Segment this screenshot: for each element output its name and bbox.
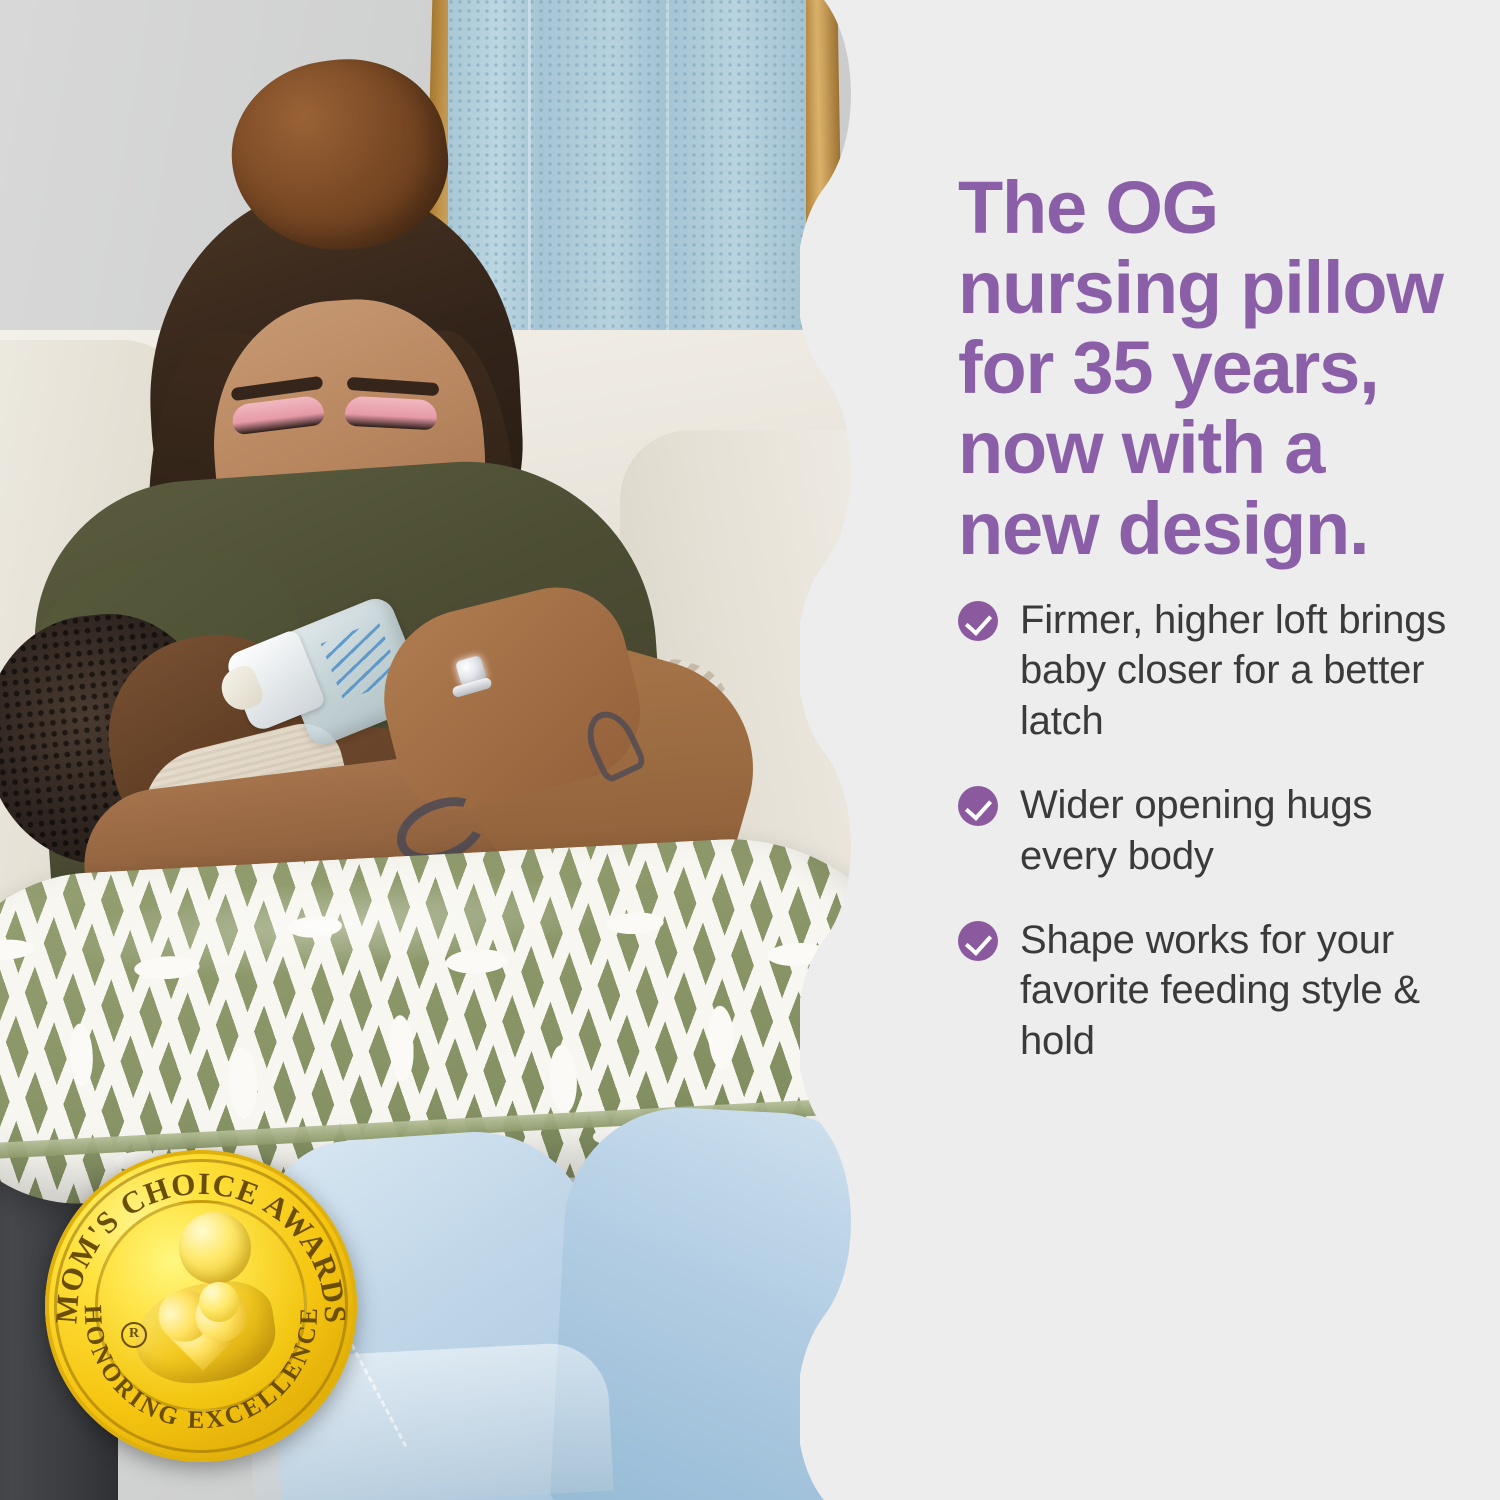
blue-knit-blanket — [448, 0, 806, 348]
feature-bullet-3: Shape works for your favorite feeding st… — [958, 915, 1468, 1066]
blanket-fold — [666, 0, 669, 348]
check-circle-icon — [958, 921, 998, 961]
badge-inner-ring — [95, 1200, 307, 1412]
moms-choice-awards-badge: MOM'S CHOICE AWARDS HONORING EXCELLENCE … — [45, 1150, 357, 1462]
blanket-fold — [528, 0, 531, 348]
feature-bullet-label: Firmer, higher loft brings baby closer f… — [1020, 595, 1468, 746]
feature-bullet-1: Firmer, higher loft brings baby closer f… — [958, 595, 1468, 746]
feature-bullet-list: Firmer, higher loft brings baby closer f… — [958, 595, 1468, 1100]
product-marketing-image: MOM'S CHOICE AWARDS HONORING EXCELLENCE … — [0, 0, 1500, 1500]
feature-bullet-label: Shape works for your favorite feeding st… — [1020, 915, 1468, 1066]
feature-bullet-label: Wider opening hugs every body — [1020, 780, 1468, 881]
mother-eye — [344, 396, 437, 431]
marketing-copy-panel: The OG nursing pillow for 35 years, now … — [880, 0, 1500, 1500]
check-circle-icon — [958, 601, 998, 641]
page-headline: The OG nursing pillow for 35 years, now … — [958, 168, 1478, 569]
check-circle-icon — [958, 786, 998, 826]
feature-bullet-2: Wider opening hugs every body — [958, 780, 1468, 881]
registered-trademark-icon: R — [121, 1322, 147, 1348]
